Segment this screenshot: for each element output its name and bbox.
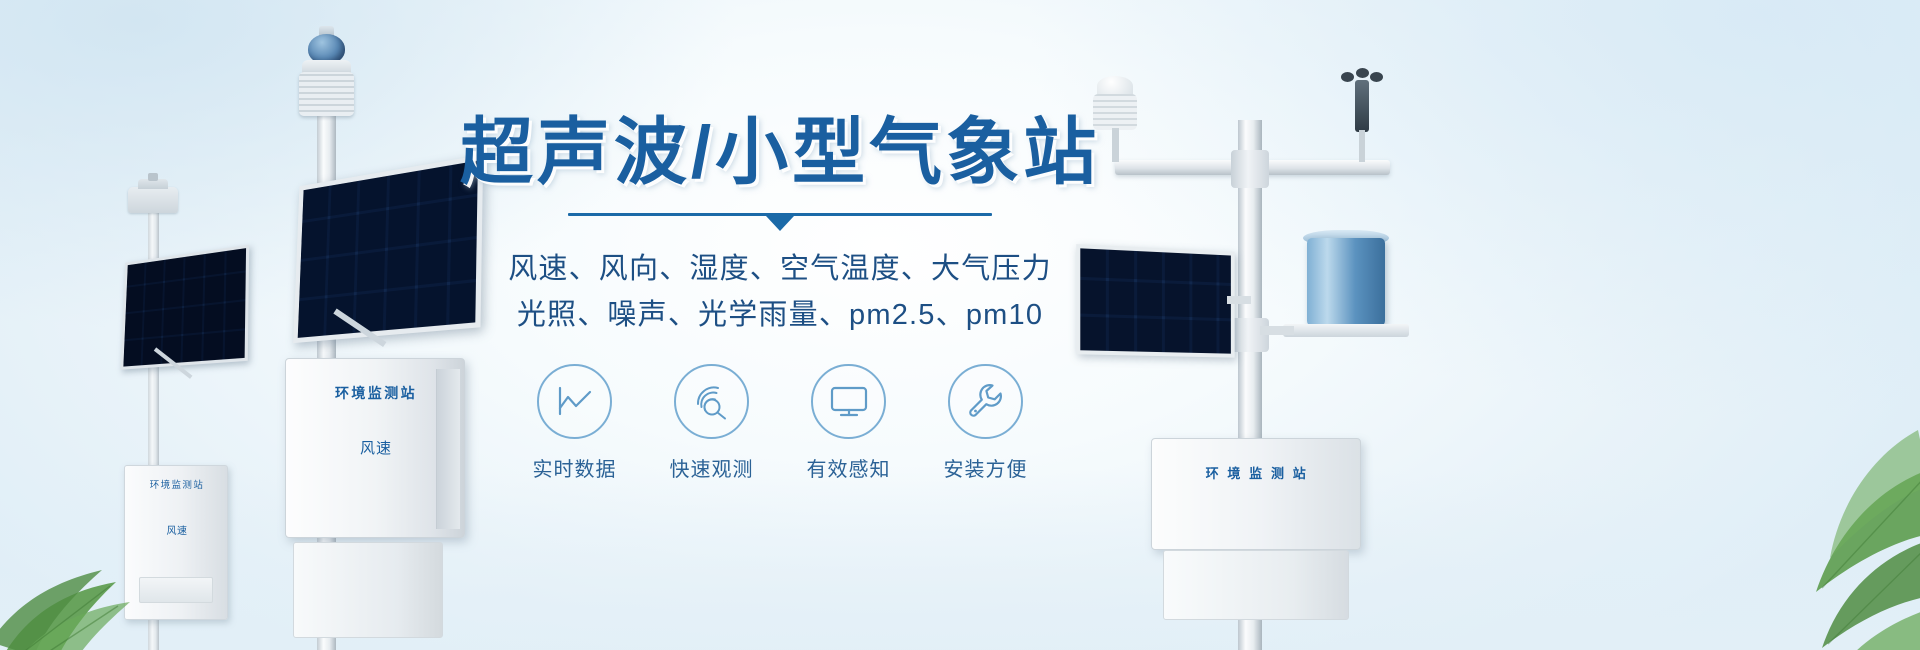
subtitle-block: 风速、风向、湿度、空气温度、大气压力 光照、噪声、光学雨量、pm2.5、pm10: [430, 247, 1130, 337]
feature-label: 安装方便: [944, 453, 1028, 482]
wrench-icon: [948, 364, 1023, 439]
radar-wave-icon: [674, 364, 749, 439]
mast-collar-lower: [1231, 318, 1269, 352]
cabinet-label: 环 境 监 测 站: [1152, 463, 1362, 482]
monitor-screen-icon: [811, 364, 886, 439]
triangle-down-icon: [766, 216, 794, 231]
solar-panel: [121, 245, 250, 370]
product-banner: 环境监测站 风速 环境监测站 风速: [0, 0, 1920, 650]
solar-panel-arm: [1227, 296, 1251, 304]
cabinet-vent: [139, 577, 213, 603]
subtitle-line-2: 光照、噪声、光学雨量、pm2.5、pm10: [430, 293, 1130, 338]
rain-gauge-arm: [1260, 326, 1294, 335]
rain-gauge-shelf: [1283, 324, 1409, 337]
temperature-humidity-shield-icon: [128, 187, 178, 213]
page-title: 超声波/小型气象站: [430, 100, 1130, 191]
subtitle-line-1: 风速、风向、湿度、空气温度、大气压力: [430, 247, 1130, 292]
line-chart-icon: [537, 364, 612, 439]
banner-content: 超声波/小型气象站 风速、风向、湿度、空气温度、大气压力 光照、噪声、光学雨量、…: [430, 100, 1130, 520]
control-cabinet: 环 境 监 测 站: [1151, 438, 1361, 550]
cabinet-base: [1163, 550, 1349, 620]
leaf-decoration-right: [1640, 410, 1920, 650]
brand-logo: 风速: [125, 522, 229, 537]
title-divider: [430, 213, 1130, 227]
weather-station-left-small: 环境监测站 风速: [100, 175, 290, 650]
ultrasonic-sensor-top: [1097, 76, 1133, 96]
feature-item-realtime-data[interactable]: 实时数据: [527, 364, 623, 482]
cabinet-base: [293, 542, 443, 638]
feature-label: 快速观测: [670, 453, 754, 482]
wind-sensor-stem: [1359, 130, 1365, 162]
cabinet-label: 环境监测站: [132, 477, 222, 491]
control-cabinet: 环境监测站 风速: [124, 465, 228, 620]
rain-gauge-icon: [1307, 238, 1385, 326]
feature-item-fast-observation[interactable]: 快速观测: [664, 364, 760, 482]
feature-label: 实时数据: [533, 453, 617, 482]
radiation-shield-stack: [299, 72, 354, 116]
cabinet-label: 环境监测站: [314, 383, 438, 403]
feature-item-easy-installation[interactable]: 安装方便: [938, 364, 1034, 482]
wind-direction-vane-icon: [1355, 80, 1369, 132]
mast-collar-upper: [1231, 150, 1269, 188]
feature-list: 实时数据 快速观测: [430, 364, 1130, 482]
feature-label: 有效感知: [807, 453, 891, 482]
feature-item-effective-sensing[interactable]: 有效感知: [801, 364, 897, 482]
